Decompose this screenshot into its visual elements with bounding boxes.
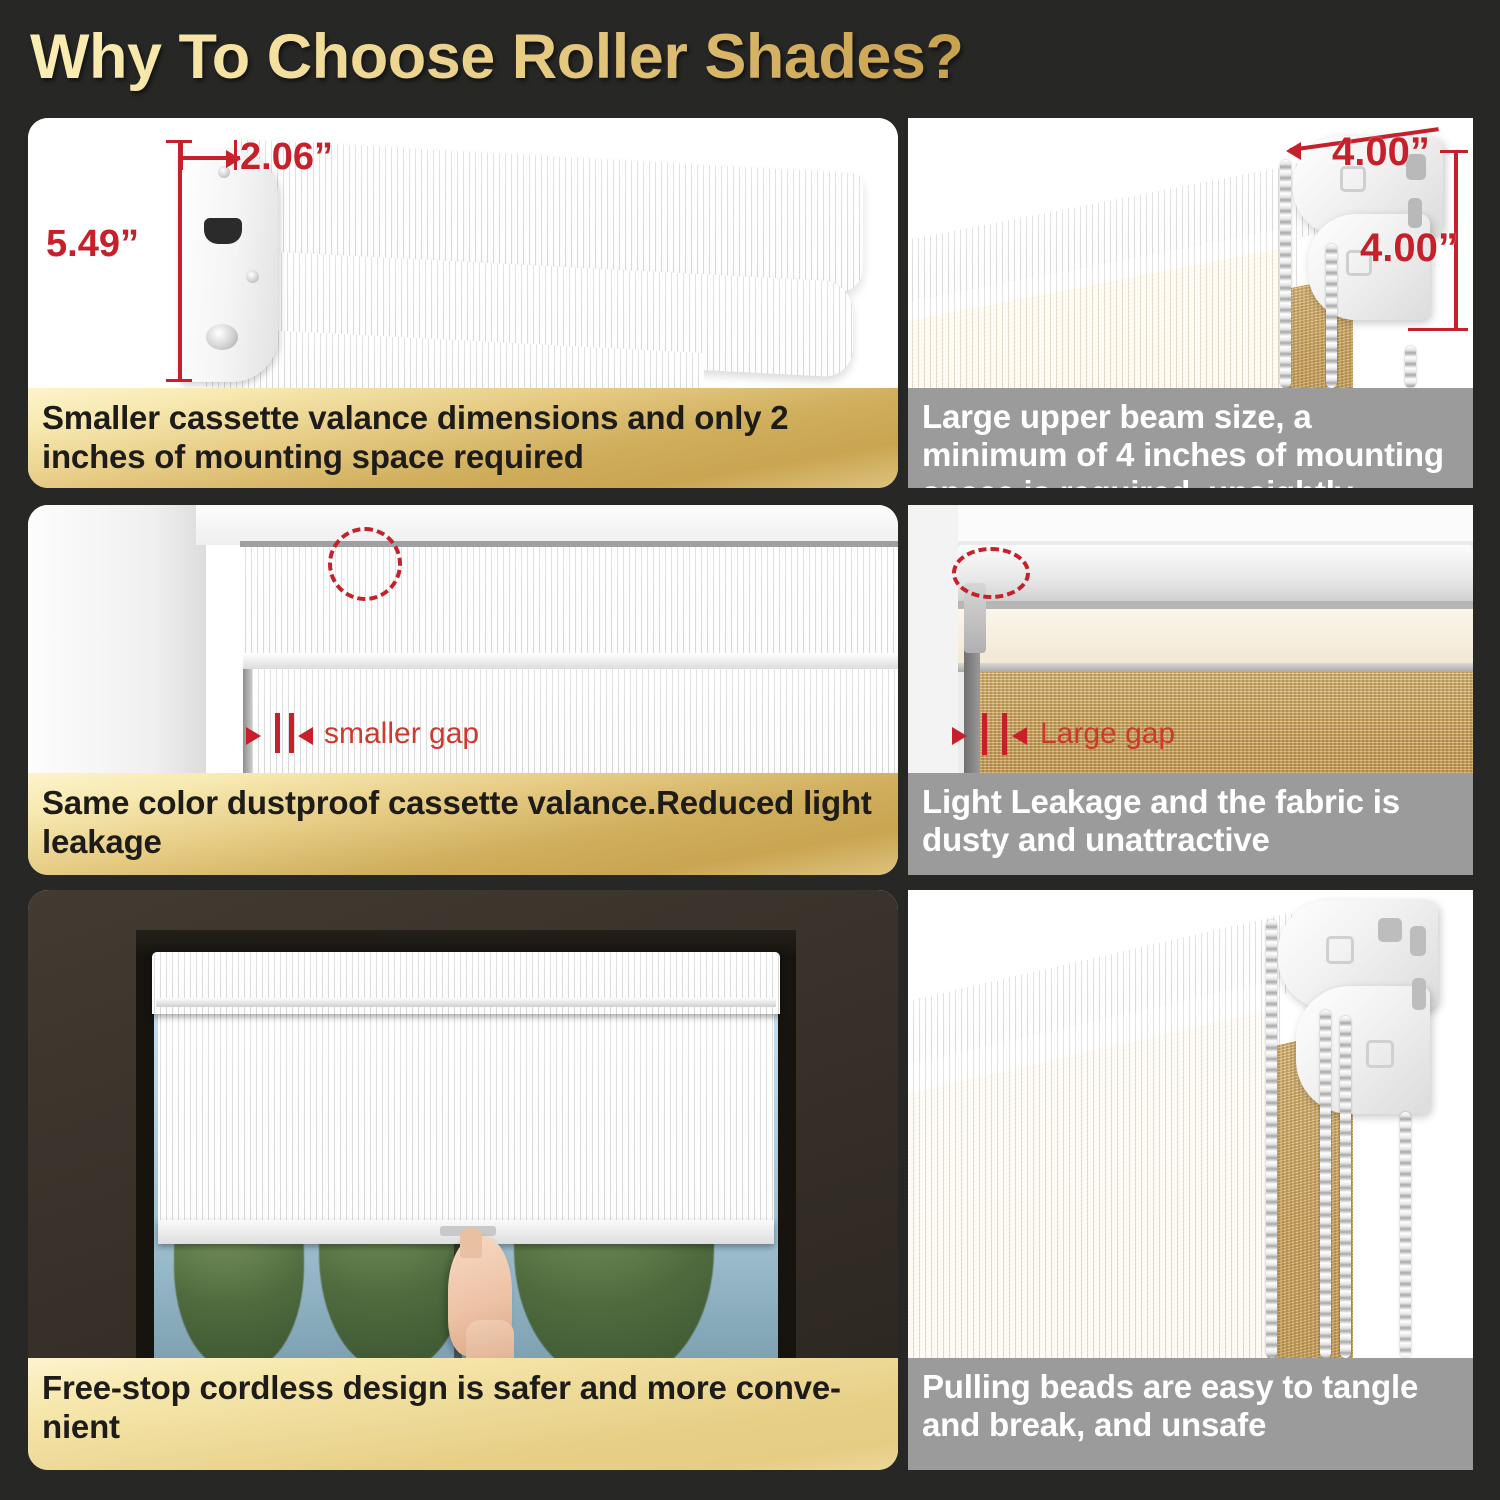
bead-chain-4 [1400, 1112, 1411, 1358]
panel-3-photo: smaller gap [28, 505, 898, 773]
height-dim-line [178, 140, 182, 382]
width-dimension-label: 2.06” [240, 136, 333, 179]
panel-light-leakage: Large gap Light Leakage and the fabric i… [908, 505, 1473, 875]
bracket-notch-side [1410, 926, 1426, 956]
top-width-arrow-left [1286, 142, 1301, 160]
gap-arrow-right [298, 727, 313, 745]
gap-marker-a [982, 713, 987, 755]
detail-highlight-circle [952, 547, 1030, 599]
bracket-emblem-top [1326, 936, 1354, 964]
large-gap-label: Large gap [1040, 717, 1175, 751]
panel-dustproof-valance: smaller gap Same color dustproof cassett… [28, 505, 898, 875]
bead-chain-1 [1266, 920, 1277, 1358]
fabric-side-edge [243, 669, 252, 773]
window-frame-left [28, 505, 206, 773]
detail-highlight-circle [328, 527, 402, 601]
panel-2-photo: 4.00” 4.00” [908, 118, 1473, 388]
cream-band [958, 609, 1473, 665]
wall-upper [908, 505, 1473, 541]
panel-6-caption-bar: Pulling beads are easy to tangle and bre… [908, 1358, 1473, 1470]
gap-marker-b [289, 713, 294, 753]
valance-bottom-lip [243, 653, 898, 669]
panel-3-caption-bar: Same color dustproof cassette valance.Re… [28, 773, 898, 875]
gap-marker-a [275, 713, 280, 753]
bead-chain-1 [1280, 160, 1291, 388]
window-frame-top [196, 505, 898, 545]
height-dim-tick-bottom [166, 379, 192, 382]
forearm [466, 1320, 514, 1358]
side-dim-tick-bottom [1408, 328, 1468, 331]
panel-4-caption-bar: Light Leakage and the fabric is dusty an… [908, 773, 1473, 875]
panel-smaller-cassette: 2.06” 5.49” Smaller cassette valance dim… [28, 118, 898, 488]
gap-arrow-left [246, 727, 261, 745]
head-rail [958, 545, 1473, 603]
width-dim-arrow [226, 150, 241, 168]
panel-2-height-label: 4.00” [1360, 226, 1458, 271]
gap-arrow-right [1012, 727, 1027, 745]
bracket-emblem-bottom [1366, 1040, 1394, 1068]
panel-4-photo: Large gap [908, 505, 1473, 773]
panel-1-caption-text: Smaller cassette valance dimensions and … [28, 388, 898, 484]
panel-6-photo [908, 890, 1473, 1358]
bead-chain-3 [1405, 346, 1416, 388]
end-cap-screw-bottom [206, 324, 238, 350]
panel-6-caption-text: Pulling beads are easy to tangle and bre… [908, 1358, 1473, 1452]
bead-chain-3 [1340, 1016, 1351, 1358]
gap-arrow-left [952, 727, 967, 745]
bead-chain-2 [1320, 1010, 1331, 1358]
bracket-notch-lower [1412, 978, 1426, 1010]
mounting-bracket-lower [1296, 986, 1430, 1114]
panel-pulling-beads: Pulling beads are easy to tangle and bre… [908, 890, 1473, 1470]
valance-groove [156, 998, 776, 1007]
infographic-page: Why To Choose Roller Shades? 2.06” [0, 0, 1500, 1500]
side-dim-tick-top [1440, 150, 1468, 153]
panel-5-caption-text: Free-stop cordless design is safer and m… [28, 1358, 898, 1454]
panel-1-photo: 2.06” 5.49” [28, 118, 898, 388]
panel-5-photo [28, 890, 898, 1358]
panel-large-upper-beam: 4.00” 4.00” Large upper beam size, a min… [908, 118, 1473, 488]
panel-2-caption-text: Large upper beam size, a minimum of 4 in… [908, 388, 1473, 488]
bracket-notch-top [1378, 918, 1402, 942]
bead-chain-2 [1326, 244, 1337, 388]
panel-2-width-label: 4.00” [1332, 130, 1430, 175]
panel-5-caption-bar: Free-stop cordless design is safer and m… [28, 1358, 898, 1470]
page-title: Why To Choose Roller Shades? [30, 18, 1050, 96]
panel-1-caption-bar: Smaller cassette valance dimensions and … [28, 388, 898, 488]
smaller-gap-label: smaller gap [324, 717, 479, 751]
head-rail-shadow [958, 601, 1473, 609]
panel-2-caption-bar: Large upper beam size, a minimum of 4 in… [908, 388, 1473, 488]
rail-edge-line [958, 663, 1473, 672]
end-cap-screw-mid [246, 270, 259, 283]
shade-fabric-body [158, 1012, 774, 1234]
height-dim-tick-top [166, 140, 192, 143]
panel-4-caption-text: Light Leakage and the fabric is dusty an… [908, 773, 1473, 867]
end-cap-slot [204, 218, 242, 244]
finger-pinch [460, 1228, 482, 1258]
gap-marker-b [1002, 713, 1007, 755]
bracket-notch-bottom [1408, 198, 1422, 228]
wall-left [908, 505, 958, 773]
height-dimension-label: 5.49” [46, 223, 139, 266]
panel-3-caption-text: Same color dustproof cassette valance.Re… [28, 773, 898, 869]
panel-cordless-design: Free-stop cordless design is safer and m… [28, 890, 898, 1470]
